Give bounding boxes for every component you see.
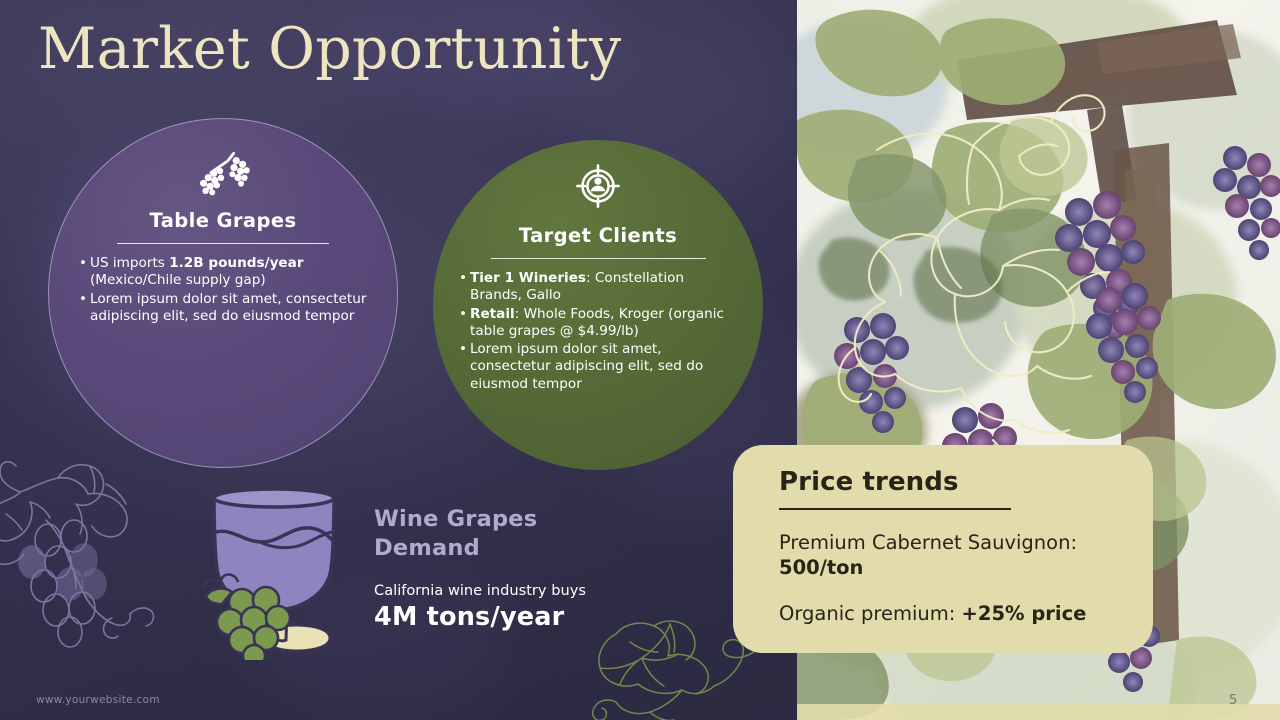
page-title: Market Opportunity — [38, 18, 621, 82]
wine-demand-stat: 4M tons/year — [374, 602, 614, 632]
price-trends-card[interactable]: Price trends Premium Cabernet Sauvignon:… — [733, 445, 1153, 653]
list-item-text: US imports 1.2B pounds/year (Mexico/Chil… — [90, 255, 367, 290]
bullet-dot: • — [459, 270, 470, 305]
price-trends-title: Price trends — [779, 467, 1119, 497]
footer-website-url[interactable]: www.yourwebsite.com — [36, 694, 160, 706]
price-line: Organic premium: +25% price — [779, 601, 1119, 627]
list-item: • Lorem ipsum dolor sit amet, consectetu… — [459, 341, 737, 393]
grape-vine-lineart-left — [0, 448, 216, 678]
price-line: Premium Cabernet Sauvignon: 500/ton — [779, 530, 1119, 581]
list-item-text: Tier 1 Wineries: Constellation Brands, G… — [470, 270, 737, 305]
list-item: • Lorem ipsum dolor sit amet, consectetu… — [79, 291, 367, 326]
wine-demand-heading: Wine Grapes Demand — [374, 505, 614, 562]
bullet-list: • US imports 1.2B pounds/year (Mexico/Ch… — [49, 255, 397, 326]
title-divider — [117, 243, 329, 244]
list-item: • Retail: Whole Foods, Kroger (organic t… — [459, 306, 737, 341]
card-title: Target Clients — [519, 224, 677, 247]
bullet-dot: • — [459, 306, 470, 341]
list-item-text: Lorem ipsum dolor sit amet, consectetur … — [90, 291, 367, 326]
target-person-icon — [574, 162, 622, 210]
price-title-divider — [779, 508, 1011, 510]
page-number: 5 — [1229, 693, 1237, 708]
card-target-clients[interactable]: Target Clients • Tier 1 Wineries: Conste… — [433, 140, 763, 470]
title-divider — [491, 258, 706, 259]
wine-demand-subtext: California wine industry buys — [374, 582, 614, 600]
grape-bunch-icon — [194, 149, 252, 197]
wine-glass-icon — [196, 470, 366, 660]
wine-demand-block: Wine Grapes Demand California wine indus… — [374, 505, 614, 632]
list-item-text: Retail: Whole Foods, Kroger (organic tab… — [470, 306, 737, 341]
bullet-dot: • — [459, 341, 470, 393]
bullet-dot: • — [79, 255, 90, 290]
list-item: • Tier 1 Wineries: Constellation Brands,… — [459, 270, 737, 305]
card-table-grapes[interactable]: Table Grapes • US imports 1.2B pounds/ye… — [48, 118, 398, 468]
slide-canvas: Market Opportunity — [0, 0, 1280, 720]
card-title: Table Grapes — [150, 209, 297, 232]
bullet-list: • Tier 1 Wineries: Constellation Brands,… — [433, 270, 763, 394]
list-item: • US imports 1.2B pounds/year (Mexico/Ch… — [79, 255, 367, 290]
bullet-dot: • — [79, 291, 90, 326]
list-item-text: Lorem ipsum dolor sit amet, consectetur … — [470, 341, 737, 393]
